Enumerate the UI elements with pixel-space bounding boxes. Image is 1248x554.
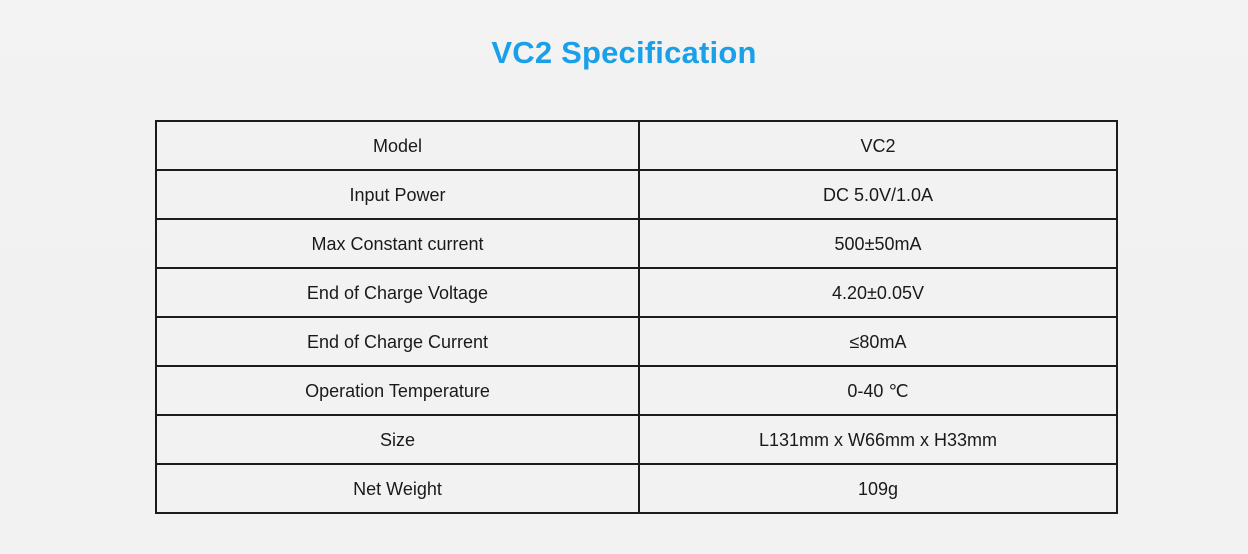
table-row: Max Constant current 500±50mA <box>156 219 1117 268</box>
table-row: Size L131mm x W66mm x H33mm <box>156 415 1117 464</box>
spec-value-end-of-charge-voltage: 4.20±0.05V <box>639 268 1117 317</box>
spec-label-operation-temperature: Operation Temperature <box>156 366 639 415</box>
table-row: Operation Temperature 0-40 ℃ <box>156 366 1117 415</box>
specification-page: VC2 Specification Model VC2 Input Power … <box>0 0 1248 554</box>
spec-value-input-power: DC 5.0V/1.0A <box>639 170 1117 219</box>
spec-label-end-of-charge-voltage: End of Charge Voltage <box>156 268 639 317</box>
spec-value-model: VC2 <box>639 121 1117 170</box>
spec-value-end-of-charge-current: ≤80mA <box>639 317 1117 366</box>
spec-label-end-of-charge-current: End of Charge Current <box>156 317 639 366</box>
spec-value-max-constant-current: 500±50mA <box>639 219 1117 268</box>
spec-label-model: Model <box>156 121 639 170</box>
specification-table-body: Model VC2 Input Power DC 5.0V/1.0A Max C… <box>156 121 1117 513</box>
table-row: Net Weight 109g <box>156 464 1117 513</box>
table-row: Model VC2 <box>156 121 1117 170</box>
spec-label-max-constant-current: Max Constant current <box>156 219 639 268</box>
table-row: End of Charge Voltage 4.20±0.05V <box>156 268 1117 317</box>
table-row: Input Power DC 5.0V/1.0A <box>156 170 1117 219</box>
spec-label-net-weight: Net Weight <box>156 464 639 513</box>
spec-label-size: Size <box>156 415 639 464</box>
spec-label-input-power: Input Power <box>156 170 639 219</box>
page-title: VC2 Specification <box>0 33 1248 73</box>
specification-table: Model VC2 Input Power DC 5.0V/1.0A Max C… <box>155 120 1118 514</box>
spec-value-net-weight: 109g <box>639 464 1117 513</box>
spec-value-operation-temperature: 0-40 ℃ <box>639 366 1117 415</box>
spec-value-size: L131mm x W66mm x H33mm <box>639 415 1117 464</box>
table-row: End of Charge Current ≤80mA <box>156 317 1117 366</box>
